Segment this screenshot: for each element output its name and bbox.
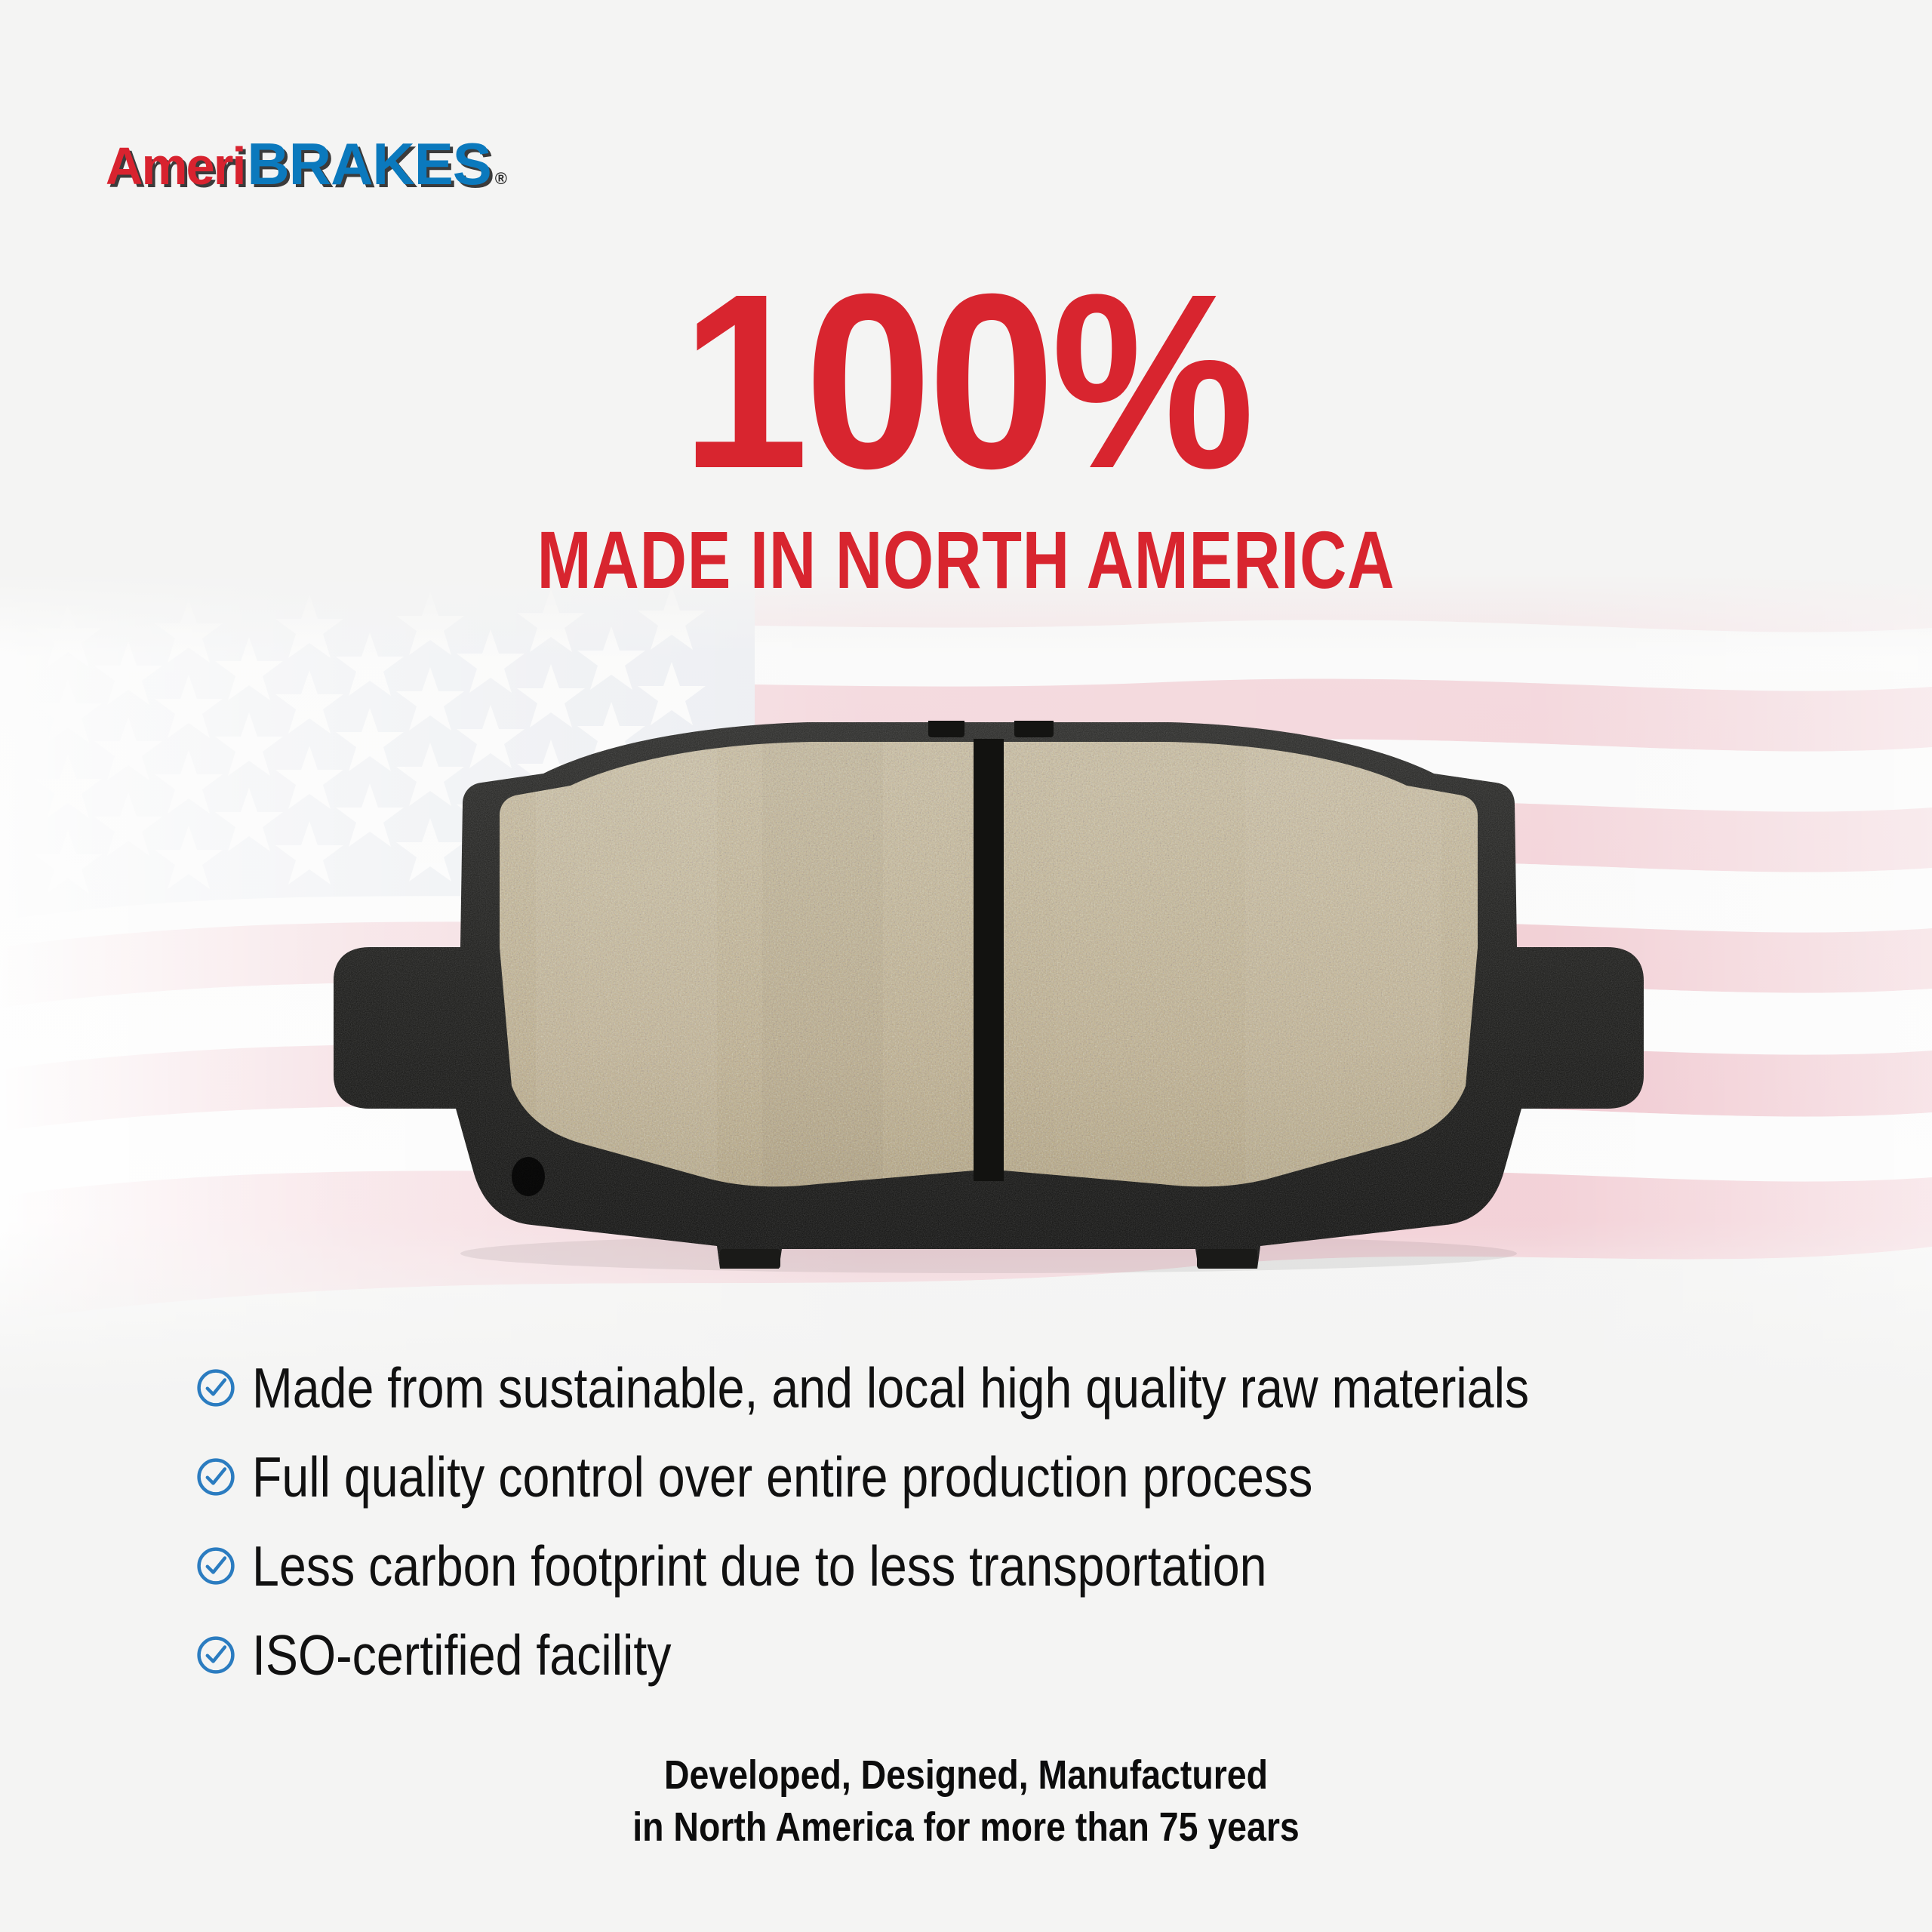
feature-list: Made from sustainable, and local high qu… — [195, 1343, 1780, 1700]
brake-pad-image — [279, 721, 1698, 1279]
headline-block: 100% MADE IN NORTH AMERICA — [0, 263, 1932, 601]
brake-pad-graphic — [279, 721, 1698, 1279]
feature-label: Made from sustainable, and local high qu… — [252, 1360, 1529, 1417]
check-circle-icon — [195, 1367, 237, 1409]
feature-label: Full quality control over entire product… — [252, 1449, 1312, 1506]
check-circle-icon — [195, 1456, 237, 1498]
footer-block: Developed, Designed, Manufactured in Nor… — [0, 1749, 1932, 1854]
footer-line-2: in North America for more than 75 years — [135, 1801, 1797, 1854]
headline-subtitle: MADE IN NORTH AMERICA — [193, 519, 1739, 601]
logo-text-brakes: BRAKES — [247, 134, 491, 193]
list-item: Made from sustainable, and local high qu… — [195, 1343, 1780, 1432]
feature-label: ISO-certified facility — [252, 1627, 672, 1684]
check-circle-icon — [195, 1634, 237, 1676]
logo-text-ameri: Ameri — [106, 140, 245, 192]
check-circle-icon — [195, 1545, 237, 1587]
brand-logo[interactable]: AmeriBRAKES® — [104, 134, 507, 202]
registered-trademark-icon: ® — [495, 169, 507, 189]
list-item: ISO-certified facility — [195, 1611, 1780, 1700]
promo-card: AmeriBRAKES® 100% MADE IN NORTH AMERICA — [0, 0, 1932, 1932]
list-item: Less carbon footprint due to less transp… — [195, 1521, 1780, 1611]
brake-pad-mounting-hole — [512, 1157, 545, 1196]
list-item: Full quality control over entire product… — [195, 1432, 1780, 1521]
footer-line-1: Developed, Designed, Manufactured — [135, 1749, 1797, 1801]
headline-percent: 100% — [77, 263, 1854, 500]
brake-pad-center-slot — [974, 739, 1004, 1181]
feature-label: Less carbon footprint due to less transp… — [252, 1538, 1267, 1595]
